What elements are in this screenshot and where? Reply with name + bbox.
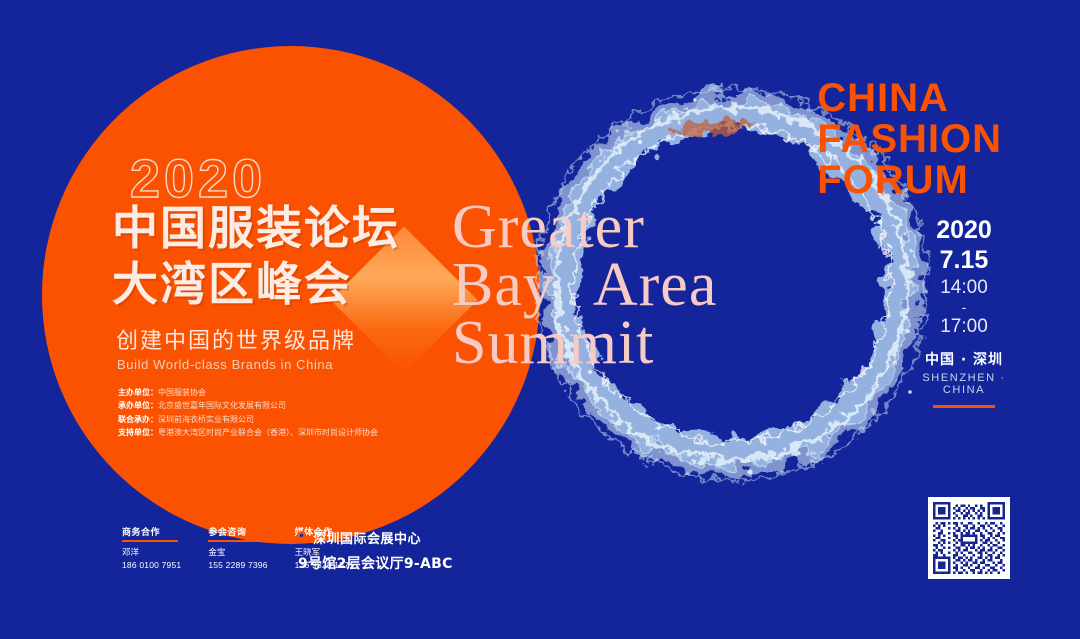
contact-name: 金宝 bbox=[208, 546, 267, 558]
organizer-list: 主办单位：中国服装协会 承办单位：北京盛世嘉年国际文化发展有限公司 联合承办：深… bbox=[118, 386, 378, 440]
headline-line-1: 中国服装论坛 bbox=[112, 200, 400, 256]
contact-name: 邓洋 bbox=[122, 546, 181, 558]
contact-title: 参会咨询 bbox=[208, 525, 264, 542]
organizer-value: 深圳前海衣桥实业有限公司 bbox=[158, 415, 254, 424]
headline-line-2: 大湾区峰会 bbox=[112, 256, 400, 312]
event-city-english: SHENZHEN · CHINA bbox=[904, 372, 1024, 396]
contact-item: 参会咨询 金宝 155 2289 7396 bbox=[208, 522, 267, 570]
event-time-dash: - bbox=[904, 301, 1024, 314]
gbas-line-2: BayArea bbox=[452, 256, 717, 314]
brand-logotype: CHINA FASHION FORUM bbox=[817, 78, 1002, 201]
contact-title: 商务合作 bbox=[122, 525, 178, 542]
brand-line-3: FORUM bbox=[817, 160, 1002, 201]
organizer-key: 主办单位： bbox=[118, 388, 158, 397]
event-year: 2020 bbox=[904, 215, 1024, 245]
organizer-value: 中国服装协会 bbox=[158, 388, 206, 397]
organizer-row: 主办单位：中国服装协会 bbox=[118, 386, 378, 399]
brand-line-1: CHINA bbox=[817, 78, 1002, 119]
poster-canvas: 2020 中国服装论坛 大湾区峰会 创建中国的世界级品牌 Build World… bbox=[0, 0, 1080, 639]
event-name-english: Greater BayArea Summit bbox=[452, 198, 717, 372]
venue-hall: 9号馆2层会议厅9-ABC bbox=[298, 553, 453, 573]
subtitle-english: Build World-class Brands in China bbox=[117, 357, 333, 372]
organizer-key: 承办单位： bbox=[118, 401, 158, 410]
organizer-row: 联合承办：深圳前海衣桥实业有限公司 bbox=[118, 413, 378, 426]
venue-name: 深圳国际会展中心 bbox=[313, 528, 421, 547]
contact-phone: 186 0100 7951 bbox=[122, 560, 181, 570]
subtitle-chinese: 创建中国的世界级品牌 bbox=[116, 323, 356, 355]
event-date: 7.15 bbox=[904, 245, 1024, 275]
event-time-end: 17:00 bbox=[904, 314, 1024, 340]
orange-rule-divider bbox=[933, 405, 995, 408]
event-city-chinese: 中国 · 深圳 bbox=[904, 349, 1024, 369]
date-time-block: 2020 7.15 14:00 - 17:00 中国 · 深圳 SHENZHEN… bbox=[904, 215, 1024, 408]
gbas-line-3: Summit bbox=[452, 314, 717, 372]
contact-phone: 155 2289 7396 bbox=[208, 560, 267, 570]
venue-name-row: 深圳国际会展中心 bbox=[296, 528, 453, 547]
location-pin-icon bbox=[296, 531, 307, 544]
contact-item: 商务合作 邓洋 186 0100 7951 bbox=[122, 522, 181, 570]
brand-line-2: FASHION bbox=[817, 119, 1002, 160]
gbas-line-1: Greater bbox=[452, 198, 717, 256]
organizer-value: 粤港澳大湾区时尚产业联合会（香港）、深圳市时尚设计师协会 bbox=[158, 428, 378, 437]
organizer-value: 北京盛世嘉年国际文化发展有限公司 bbox=[158, 401, 286, 410]
page-title: 中国服装论坛 大湾区峰会 bbox=[112, 200, 400, 312]
organizer-row: 支持单位：粤港澳大湾区时尚产业联合会（香港）、深圳市时尚设计师协会 bbox=[118, 426, 378, 439]
organizer-row: 承办单位：北京盛世嘉年国际文化发展有限公司 bbox=[118, 399, 378, 412]
organizer-key: 支持单位： bbox=[118, 428, 158, 437]
venue-block: 深圳国际会展中心 9号馆2层会议厅9-ABC bbox=[296, 528, 453, 573]
organizer-key: 联合承办： bbox=[118, 415, 158, 424]
event-time-start: 14:00 bbox=[904, 275, 1024, 301]
qr-code-icon[interactable] bbox=[928, 497, 1010, 579]
